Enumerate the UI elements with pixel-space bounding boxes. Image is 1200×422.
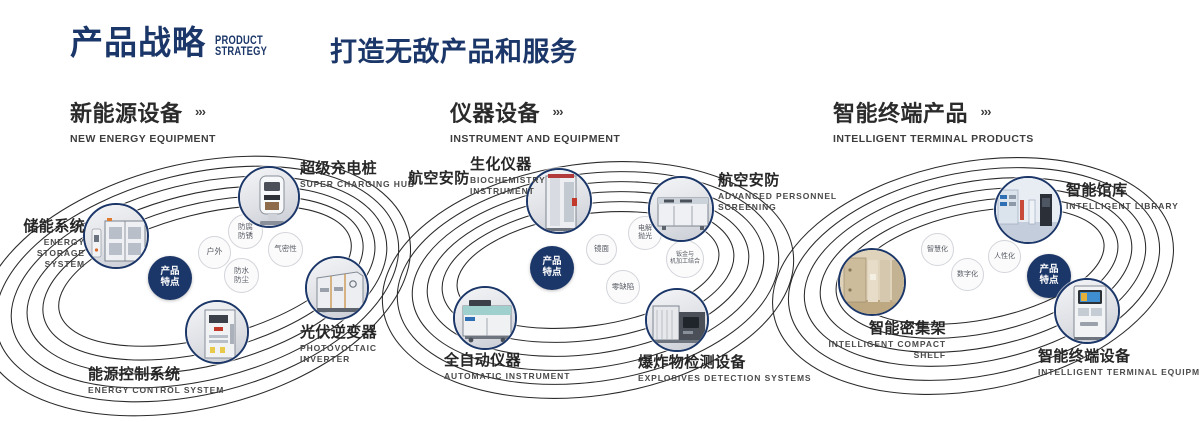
chevron-right-icon: ››› [980,104,990,119]
feature-bubble-sheetmetal-machining: 钣金与 机加工结合 [666,240,704,278]
node-label-cn: 智能终端设备 [1038,348,1200,365]
core-bubble-product-features: 产品 特点 [148,256,192,300]
core-bubble-product-features: 产品 特点 [530,246,574,290]
section-title-new-energy: 新能源设备 ››› NEW ENERGY EQUIPMENT [70,96,216,145]
node-label-cn: 生化仪器 [470,156,600,173]
node-label-intelligent-terminal-equipment: 智能终端设备 INTELLIGENT TERMINAL EQUIPMENT [1038,348,1200,378]
node-photovoltaic-inverter[interactable] [305,256,369,320]
node-label-en: ENERGY STORAGE SYSTEM [0,237,85,269]
automatic-instrument-photo [455,288,515,348]
page-title-cn: 产品战略 [70,26,206,59]
node-energy-storage-system[interactable] [83,203,149,269]
feature-bubble-label: 人性化 [994,253,1015,261]
diagram-new-energy: 产品 特点 户外 防腐 防锈 防水 防尘 气密性 [0,148,420,422]
feature-bubble-humanization: 人性化 [988,240,1021,273]
compact-shelf-photo [840,250,904,314]
feature-bubble-intelligentization: 智慧化 [921,233,954,266]
smart-library-photo [996,178,1060,242]
node-advanced-personnel-screening[interactable] [648,176,714,242]
diagram-intelligent-terminal: 产品 特点 智慧化 数字化 人性化 [790,148,1200,422]
node-super-charging-hub[interactable] [238,166,300,228]
pv-inverter-photo [307,258,367,318]
product-strategy-infographic: 产品战略 PRODUCT STRATEGY 打造无敌产品和服务 新能源设备 ››… [0,0,1200,422]
feature-bubble-label: 数字化 [957,271,978,279]
node-label-energy-control-system: 能源控制系统 ENERGY CONTROL SYSTEM [88,366,248,396]
chevron-right-icon: ››› [195,104,205,119]
feature-bubble-digitalization: 数字化 [951,258,984,291]
node-label-automatic-instrument: 全自动仪器 AUTOMATIC INSTRUMENT [444,352,594,382]
diagram-instrument: 产品 特点 镜面 电解 抛光 钣金与 机加工结合 零缺陷 航空安防 [400,148,820,422]
node-label-en: INTELLIGENT TERMINAL EQUIPMENT [1038,367,1200,378]
node-label-cn: 能源控制系统 [88,366,248,383]
node-intelligent-terminal-equipment[interactable] [1054,278,1120,344]
feature-bubble-waterproof: 防水 防尘 [224,258,259,293]
node-label-energy-storage-system: 储能系统 ENERGY STORAGE SYSTEM [0,218,85,269]
feature-bubble-label: 防水 防尘 [234,267,249,284]
section-title-instrument: 仪器设备 ››› INSTRUMENT AND EQUIPMENT [450,96,620,145]
node-label-biochemistry-instrument: 生化仪器 BIOCHEMISTRY INSTRUMENT [470,156,600,197]
node-label-en: ENERGY CONTROL SYSTEM [88,385,248,396]
core-bubble-label: 产品 特点 [160,267,179,288]
self-service-kiosk-photo [1056,280,1118,342]
core-bubble-label: 产品 特点 [542,257,561,278]
feature-bubble-label: 镜面 [594,245,609,253]
section-title-intelligent-terminal: 智能终端产品 ››› INTELLIGENT TERMINAL PRODUCTS [833,96,1034,145]
page-subtitle: 打造无敌产品和服务 [330,30,578,69]
node-label-intelligent-library: 智能馆库 INTELLIGENT LIBRARY [1066,182,1196,212]
control-cabinet-photo [187,302,247,362]
node-label-en: INTELLIGENT LIBRARY [1066,201,1196,212]
feature-bubble-mirror-finish: 镜面 [586,234,617,265]
node-automatic-instrument[interactable] [453,286,517,350]
battery-cabinet-photo [85,205,147,267]
feature-bubble-label: 智慧化 [927,246,948,254]
explosives-detector-photo [647,290,707,350]
feature-bubble-label: 气密性 [274,245,297,253]
node-label-cn: 全自动仪器 [444,352,594,369]
node-label-cn: 智能馆库 [1066,182,1196,199]
section-title-cn: 智能终端产品 [833,96,968,128]
charging-pile-photo [240,168,298,226]
feature-bubble-airtightness: 气密性 [268,232,303,267]
page-title-en: PRODUCT STRATEGY [215,35,267,57]
section-title-en: INTELLIGENT TERMINAL PRODUCTS [833,133,1034,145]
node-label-intelligent-compact-shelf: 智能密集架 INTELLIGENT COMPACT SHELF [768,320,946,361]
node-label-cn: 智能密集架 [768,320,946,337]
node-label-en: BIOCHEMISTRY INSTRUMENT [470,175,600,196]
feature-bubble-label: 钣金与 机加工结合 [670,252,700,265]
chevron-right-icon: ››› [552,104,562,119]
node-label-en: AUTOMATIC INSTRUMENT [444,371,594,382]
page-header: 产品战略 PRODUCT STRATEGY [70,26,282,59]
screening-machine-photo [650,178,712,240]
section-title-cn: 新能源设备 [70,96,183,128]
node-intelligent-library[interactable] [994,176,1062,244]
section-title-cn: 仪器设备 [450,96,540,128]
feature-bubble-label: 户外 [207,248,223,257]
node-energy-control-system[interactable] [185,300,249,364]
section-title-en: INSTRUMENT AND EQUIPMENT [450,133,620,145]
feature-bubble-zero-defect: 零缺陷 [606,270,640,304]
node-label-en: INTELLIGENT COMPACT SHELF [768,339,946,360]
node-intelligent-compact-shelf[interactable] [838,248,906,316]
feature-bubble-outdoor: 户外 [198,236,231,269]
section-title-en: NEW ENERGY EQUIPMENT [70,133,216,145]
feature-bubble-label: 零缺陷 [612,283,635,291]
node-label-cn: 储能系统 [0,218,85,235]
node-explosives-detection-systems[interactable] [645,288,709,352]
